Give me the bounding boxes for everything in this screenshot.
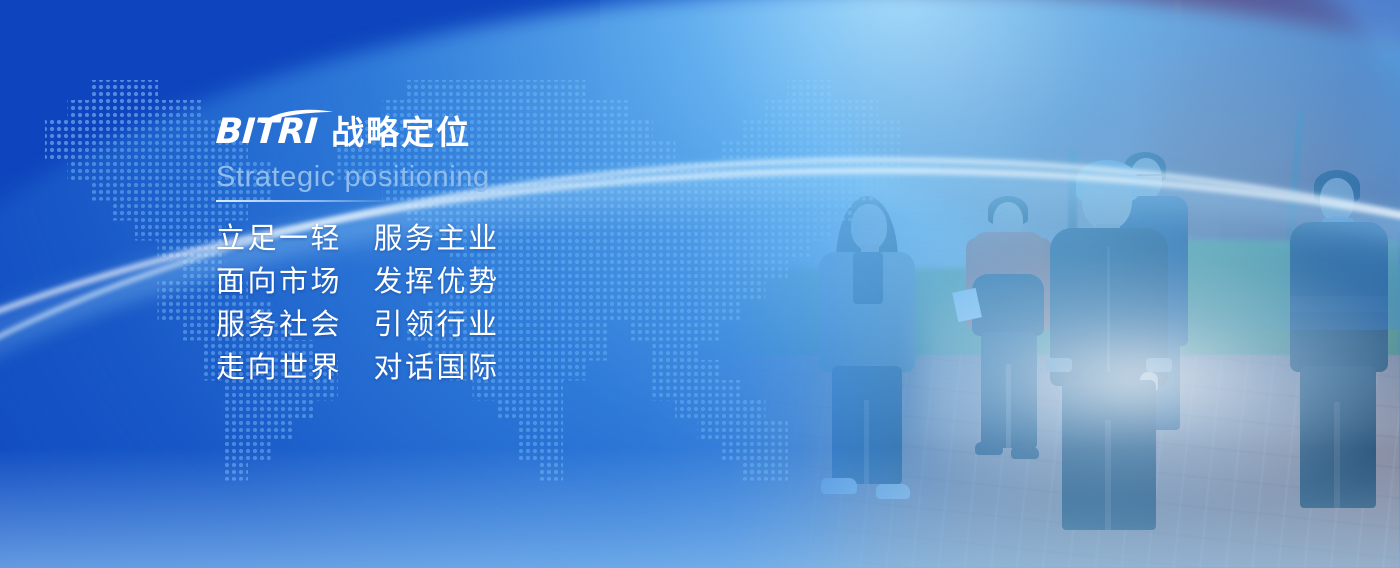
slogan-line: 服务社会 引领行业 bbox=[216, 304, 776, 347]
slogan-line: 立足一轻 服务主业 bbox=[216, 218, 776, 261]
slogan-line: 面向市场 发挥优势 bbox=[216, 261, 776, 304]
banner-content: BITRI 战略定位 Strategic positioning 立足一轻 服务… bbox=[216, 108, 776, 390]
slogan-list: 立足一轻 服务主业 面向市场 发挥优势 服务社会 引领行业 走向世界 对话国际 bbox=[216, 218, 776, 390]
bitri-wordmark: BITRI bbox=[214, 110, 318, 154]
bitri-logo: BITRI bbox=[216, 110, 317, 154]
slogan-line: 走向世界 对话国际 bbox=[216, 347, 776, 390]
banner-subtitle-en: Strategic positioning bbox=[216, 159, 776, 195]
title-row: BITRI 战略定位 bbox=[216, 108, 776, 154]
banner-title-cn: 战略定位 bbox=[331, 113, 471, 154]
title-divider bbox=[216, 200, 396, 202]
strategic-positioning-banner: BITRI 战略定位 Strategic positioning 立足一轻 服务… bbox=[0, 0, 1400, 568]
